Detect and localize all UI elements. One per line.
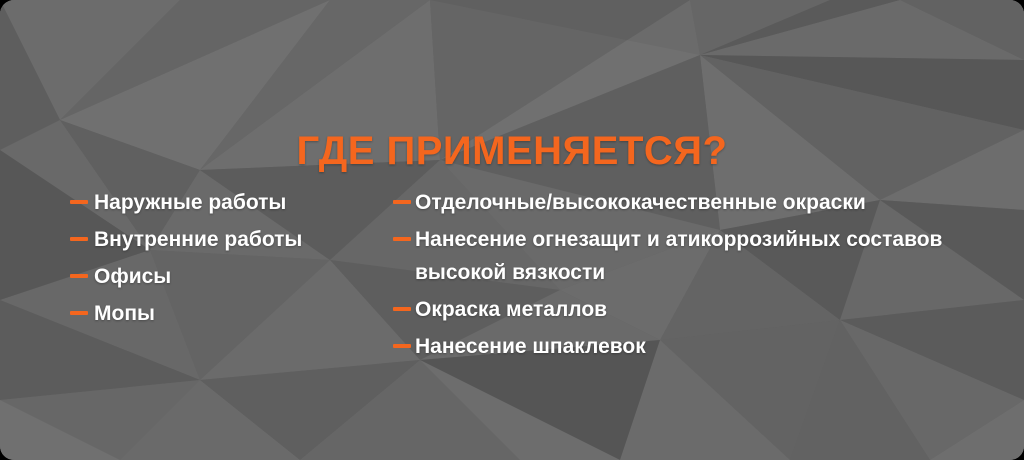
list-item-label: Мопы xyxy=(94,297,155,330)
bullet-list-left: Наружные работы Внутренние работы Офисы … xyxy=(70,186,370,334)
list-item: Окраска металлов xyxy=(393,293,993,326)
dash-marker-icon xyxy=(393,344,411,348)
list-item: Наружные работы xyxy=(70,186,370,219)
dash-marker-icon xyxy=(70,200,88,204)
list-item: Мопы xyxy=(70,297,370,330)
list-item: Нанесение шпаклевок xyxy=(393,330,993,363)
list-item-label: Отделочные/высококачественные окраски xyxy=(415,186,866,219)
list-item: Внутренние работы xyxy=(70,223,370,256)
bullet-list-right: Отделочные/высококачественные окраски На… xyxy=(393,186,993,367)
slide-card: ГДЕ ПРИМЕНЯЕТСЯ? Наружные работы Внутрен… xyxy=(0,0,1024,460)
slide-content: ГДЕ ПРИМЕНЯЕТСЯ? Наружные работы Внутрен… xyxy=(0,0,1024,460)
list-item: Офисы xyxy=(70,260,370,293)
list-item-label: Нанесение огнезащит и атикоррозийных сос… xyxy=(415,223,993,289)
dash-marker-icon xyxy=(70,311,88,315)
dash-marker-icon xyxy=(70,237,88,241)
list-item: Нанесение огнезащит и атикоррозийных сос… xyxy=(393,223,993,289)
page-title: ГДЕ ПРИМЕНЯЕТСЯ? xyxy=(0,129,1024,173)
dash-marker-icon xyxy=(393,307,411,311)
list-item-label: Окраска металлов xyxy=(415,293,607,326)
list-item: Отделочные/высококачественные окраски xyxy=(393,186,993,219)
list-item-label: Внутренние работы xyxy=(94,223,302,256)
dash-marker-icon xyxy=(393,200,411,204)
list-item-label: Наружные работы xyxy=(94,186,286,219)
dash-marker-icon xyxy=(393,237,411,241)
dash-marker-icon xyxy=(70,274,88,278)
list-item-label: Офисы xyxy=(94,260,171,293)
list-item-label: Нанесение шпаклевок xyxy=(415,330,646,363)
